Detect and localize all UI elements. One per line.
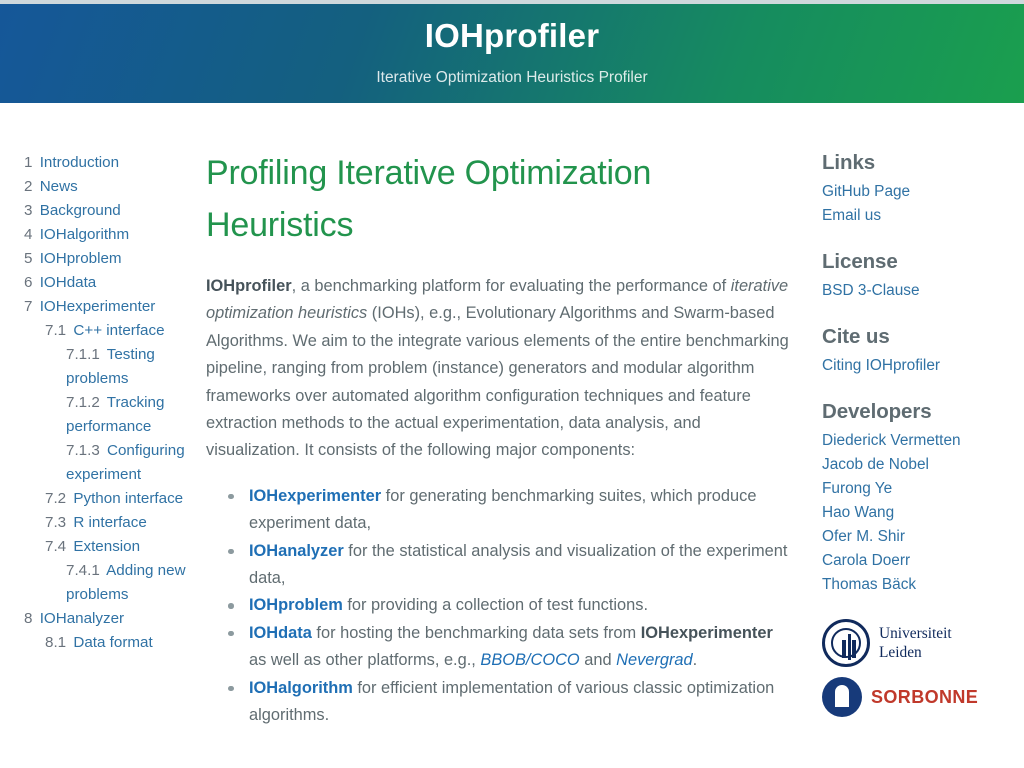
intro-part2: (IOHs), e.g., Evolutionary Algorithms an… [206, 304, 789, 459]
site-subtitle: Iterative Optimization Heuristics Profil… [376, 69, 647, 87]
toc-item-number: 8.1 [45, 634, 66, 651]
list-item: IOHdata for hosting the benchmarking dat… [226, 620, 792, 675]
toc-item-label: Extension [73, 538, 140, 555]
toc-item-c-interface[interactable]: 7.1 C++ interface [24, 319, 192, 343]
license-heading: License [822, 250, 1008, 274]
list-item: IOHexperimenter for generating benchmark… [226, 483, 792, 538]
license-group: License BSD 3-Clause [822, 250, 1008, 303]
component-description-4: . [693, 651, 698, 669]
toc-item-r-interface[interactable]: 7.3 R interface [24, 511, 192, 535]
cite-heading: Cite us [822, 325, 1008, 349]
toc-item-number: 7.1 [45, 322, 66, 339]
toc-item-label: IOHalgorithm [40, 226, 129, 243]
developer-link-jacob-de-nobel[interactable]: Jacob de Nobel [822, 453, 1008, 477]
developer-link-hao-wang[interactable]: Hao Wang [822, 501, 1008, 525]
developers-heading: Developers [822, 400, 1008, 424]
sorbonne-dome-icon [822, 677, 862, 717]
component-link[interactable]: IOHalgorithm [249, 679, 353, 697]
leiden-line1: Universiteit [879, 624, 952, 643]
page-body: 1 Introduction2 News3 Background4 IOHalg… [0, 103, 1024, 768]
toc-item-data-format[interactable]: 8.1 Data format [24, 631, 192, 655]
component-link[interactable]: IOHdata [249, 624, 312, 642]
toc-item-number: 3 [24, 202, 32, 219]
toc-item-label: Python interface [73, 490, 183, 507]
right-sidebar: Links GitHub PageEmail us License BSD 3-… [814, 151, 1018, 768]
leiden-seal-icon [822, 619, 870, 667]
component-description-3: and [580, 651, 616, 669]
toc-item-label: IOHproblem [40, 250, 122, 267]
developer-link-furong-ye[interactable]: Furong Ye [822, 477, 1008, 501]
leiden-logo-text: Universiteit Leiden [879, 624, 952, 662]
main-content: Profiling Iterative Optimization Heurist… [200, 151, 814, 768]
sidebar-link-email-us[interactable]: Email us [822, 204, 1008, 228]
toc-item-python-interface[interactable]: 7.2 Python interface [24, 487, 192, 511]
toc-item-number: 1 [24, 154, 32, 171]
toc-item-number: 8 [24, 610, 32, 627]
list-item: IOHalgorithm for efficient implementatio… [226, 675, 792, 730]
sorbonne-logo[interactable]: SORBONNE [822, 677, 1008, 717]
toc-item-number: 7.1.3 [66, 442, 100, 459]
toc-item-iohanalyzer[interactable]: 8 IOHanalyzer [24, 607, 192, 631]
sidebar-link-github-page[interactable]: GitHub Page [822, 180, 1008, 204]
universiteit-leiden-logo[interactable]: Universiteit Leiden [822, 619, 1008, 667]
developer-link-ofer-m-shir[interactable]: Ofer M. Shir [822, 525, 1008, 549]
component-bold-term: IOHexperimenter [641, 624, 773, 642]
toc-item-number: 5 [24, 250, 32, 267]
toc-item-news[interactable]: 2 News [24, 175, 192, 199]
list-item: IOHanalyzer for the statistical analysis… [226, 538, 792, 593]
toc-item-adding-new-problems[interactable]: 7.4.1 Adding new problems [24, 559, 192, 607]
toc-item-extension[interactable]: 7.4 Extension [24, 535, 192, 559]
cite-link-citing-iohprofiler[interactable]: Citing IOHprofiler [822, 354, 1008, 378]
page-header: IOHprofiler Iterative Optimization Heuri… [0, 4, 1024, 103]
toc-item-number: 7.2 [45, 490, 66, 507]
toc-item-number: 7 [24, 298, 32, 315]
component-description: for providing a collection of test funct… [343, 596, 648, 614]
toc-item-label: IOHanalyzer [40, 610, 124, 627]
toc-item-background[interactable]: 3 Background [24, 199, 192, 223]
toc-item-number: 7.3 [45, 514, 66, 531]
component-description: for hosting the benchmarking data sets f… [312, 624, 641, 642]
toc-item-number: 7.4 [45, 538, 66, 555]
toc-item-iohalgorithm[interactable]: 4 IOHalgorithm [24, 223, 192, 247]
list-item: IOHproblem for providing a collection of… [226, 592, 792, 619]
toc-item-iohexperimenter[interactable]: 7 IOHexperimenter [24, 295, 192, 319]
license-link-bsd-3-clause[interactable]: BSD 3-Clause [822, 279, 1008, 303]
toc-item-number: 2 [24, 178, 32, 195]
toc-item-label: IOHexperimenter [40, 298, 156, 315]
component-link[interactable]: IOHanalyzer [249, 542, 344, 560]
toc-item-tracking-performance[interactable]: 7.1.2 Tracking performance [24, 391, 192, 439]
page-title: Profiling Iterative Optimization Heurist… [206, 151, 792, 251]
external-platform-link-bbob[interactable]: BBOB/COCO [480, 651, 579, 669]
links-heading: Links [822, 151, 1008, 175]
leiden-line2: Leiden [879, 643, 952, 662]
sorbonne-logo-text: SORBONNE [871, 687, 978, 708]
toc-item-number: 7.4.1 [66, 562, 100, 579]
links-group: Links GitHub PageEmail us [822, 151, 1008, 228]
component-description-2: as well as other platforms, e.g., [249, 651, 480, 669]
table-of-contents: 1 Introduction2 News3 Background4 IOHalg… [0, 151, 200, 768]
toc-item-label: R interface [73, 514, 146, 531]
toc-item-label: Background [40, 202, 121, 219]
toc-item-label: IOHdata [40, 274, 97, 291]
toc-item-iohdata[interactable]: 6 IOHdata [24, 271, 192, 295]
component-link[interactable]: IOHproblem [249, 596, 343, 614]
toc-item-number: 7.1.2 [66, 394, 100, 411]
toc-item-label: News [40, 178, 78, 195]
component-link[interactable]: IOHexperimenter [249, 487, 381, 505]
external-platform-link-nevergrad[interactable]: Nevergrad [616, 651, 693, 669]
component-list: IOHexperimenter for generating benchmark… [226, 483, 792, 730]
developer-link-thomas-b-ck[interactable]: Thomas Bäck [822, 573, 1008, 597]
toc-item-number: 7.1.1 [66, 346, 100, 363]
toc-item-configuring-experiment[interactable]: 7.1.3 Configuring experiment [24, 439, 192, 487]
toc-item-label: C++ interface [73, 322, 164, 339]
developer-link-carola-doerr[interactable]: Carola Doerr [822, 549, 1008, 573]
cite-group: Cite us Citing IOHprofiler [822, 325, 1008, 378]
toc-item-introduction[interactable]: 1 Introduction [24, 151, 192, 175]
toc-item-iohproblem[interactable]: 5 IOHproblem [24, 247, 192, 271]
toc-item-number: 6 [24, 274, 32, 291]
developers-group: Developers Diederick VermettenJacob de N… [822, 400, 1008, 597]
intro-paragraph: IOHprofiler, a benchmarking platform for… [206, 273, 792, 465]
toc-item-number: 4 [24, 226, 32, 243]
intro-part1: , a benchmarking platform for evaluating… [292, 277, 731, 295]
site-title: IOHprofiler [425, 16, 600, 56]
intro-lead: IOHprofiler [206, 277, 292, 295]
toc-item-label: Data format [73, 634, 152, 651]
toc-item-label: Introduction [40, 154, 119, 171]
toc-item-testing-problems[interactable]: 7.1.1 Testing problems [24, 343, 192, 391]
developer-link-diederick-vermetten[interactable]: Diederick Vermetten [822, 429, 1008, 453]
